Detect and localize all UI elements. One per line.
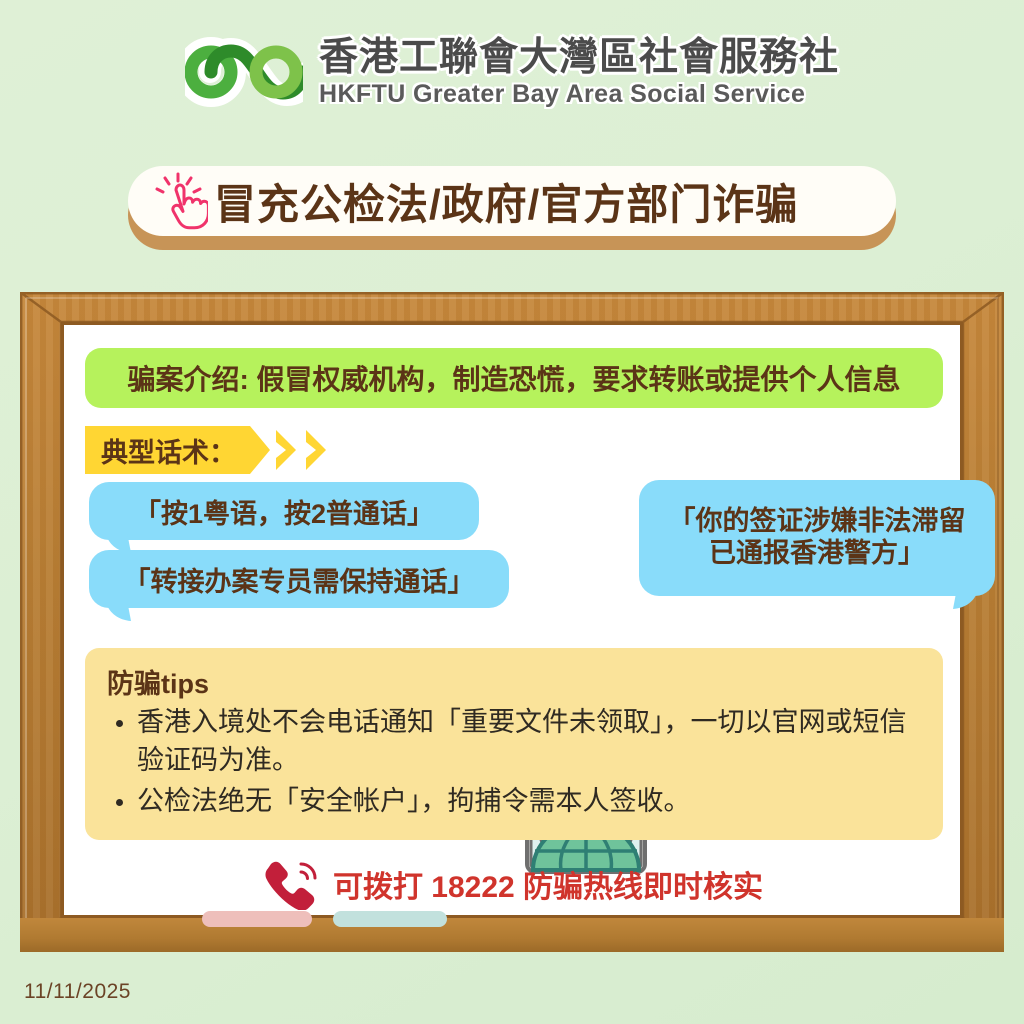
chevron-right-icon-1 — [274, 428, 300, 472]
org-header: 香港工聯會大灣區社會服務社 HKFTU Greater Bay Area Soc… — [0, 34, 1024, 110]
footer-date: 11/11/2025 — [24, 980, 131, 1004]
script-bubble-3-text: 「你的签证涉嫌非法滞留已通报香港警方」 — [669, 506, 966, 570]
script-bubble-3: 「你的签证涉嫌非法滞留已通报香港警方」 — [639, 480, 995, 596]
script-bubble-1-text: 「按1粤语，按2普通话」 — [134, 492, 434, 531]
frame-bottom-ledge — [20, 918, 1004, 952]
pointing-hand-click-icon — [154, 172, 208, 230]
bubble-tail-icon — [951, 588, 981, 610]
title-banner: 冒充公检法/政府/官方部门诈骗 — [128, 166, 896, 250]
scam-intro-text: 骗案介绍: 假冒权威机构，制造恐慌，要求转账或提供个人信息 — [127, 358, 900, 398]
bubble-tail-icon — [103, 600, 133, 622]
org-name-en: HKFTU Greater Bay Area Social Service — [319, 82, 839, 107]
typical-script-tag: 典型话术： — [85, 426, 270, 474]
script-bubble-2: 「转接办案专员需保持通话」 — [89, 550, 509, 608]
telephone-ringing-icon — [261, 858, 319, 910]
scam-intro-bar: 骗案介绍: 假冒权威机构，制造恐慌，要求转账或提供个人信息 — [85, 348, 943, 408]
content-card: 骗案介绍: 假冒权威机构，制造恐慌，要求转账或提供个人信息 典型话术： 「按1粤… — [61, 322, 963, 918]
tips-list-item: 香港入境处不会电话通知「重要文件未领取」，一切以官网或短信验证码为准。 — [137, 703, 921, 780]
tips-title: 防骗tips — [107, 662, 921, 701]
decorative-bar-teal — [333, 911, 447, 927]
title-banner-pill: 冒充公检法/政府/官方部门诈骗 — [128, 166, 896, 236]
decorative-bar-pink — [202, 911, 312, 927]
anti-fraud-tips-box: 防骗tips 香港入境处不会电话通知「重要文件未领取」，一切以官网或短信验证码为… — [85, 648, 943, 840]
script-bubble-2-text: 「转接办案专员需保持通话」 — [124, 560, 475, 599]
hotline-text: 可拨打 18222 防骗热线即时核实 — [333, 862, 763, 906]
tips-list: 香港入境处不会电话通知「重要文件未领取」，一切以官网或短信验证码为准。公检法绝无… — [107, 703, 921, 820]
poster-canvas: 香港工聯會大灣區社會服務社 HKFTU Greater Bay Area Soc… — [0, 0, 1024, 1024]
chevron-right-icon-2 — [304, 428, 330, 472]
hotline-row: 可拨打 18222 防骗热线即时核实 — [61, 858, 963, 910]
infinity-loop-logo — [185, 34, 303, 110]
script-bubble-1: 「按1粤语，按2普通话」 — [89, 482, 479, 540]
typical-script-header: 典型话术： — [85, 426, 330, 474]
page-title: 冒充公检法/政府/官方部门诈骗 — [214, 171, 798, 232]
org-name-cn: 香港工聯會大灣區社會服務社 — [319, 38, 839, 77]
tips-list-item: 公检法绝无「安全帐户」，拘捕令需本人签收。 — [137, 782, 921, 820]
